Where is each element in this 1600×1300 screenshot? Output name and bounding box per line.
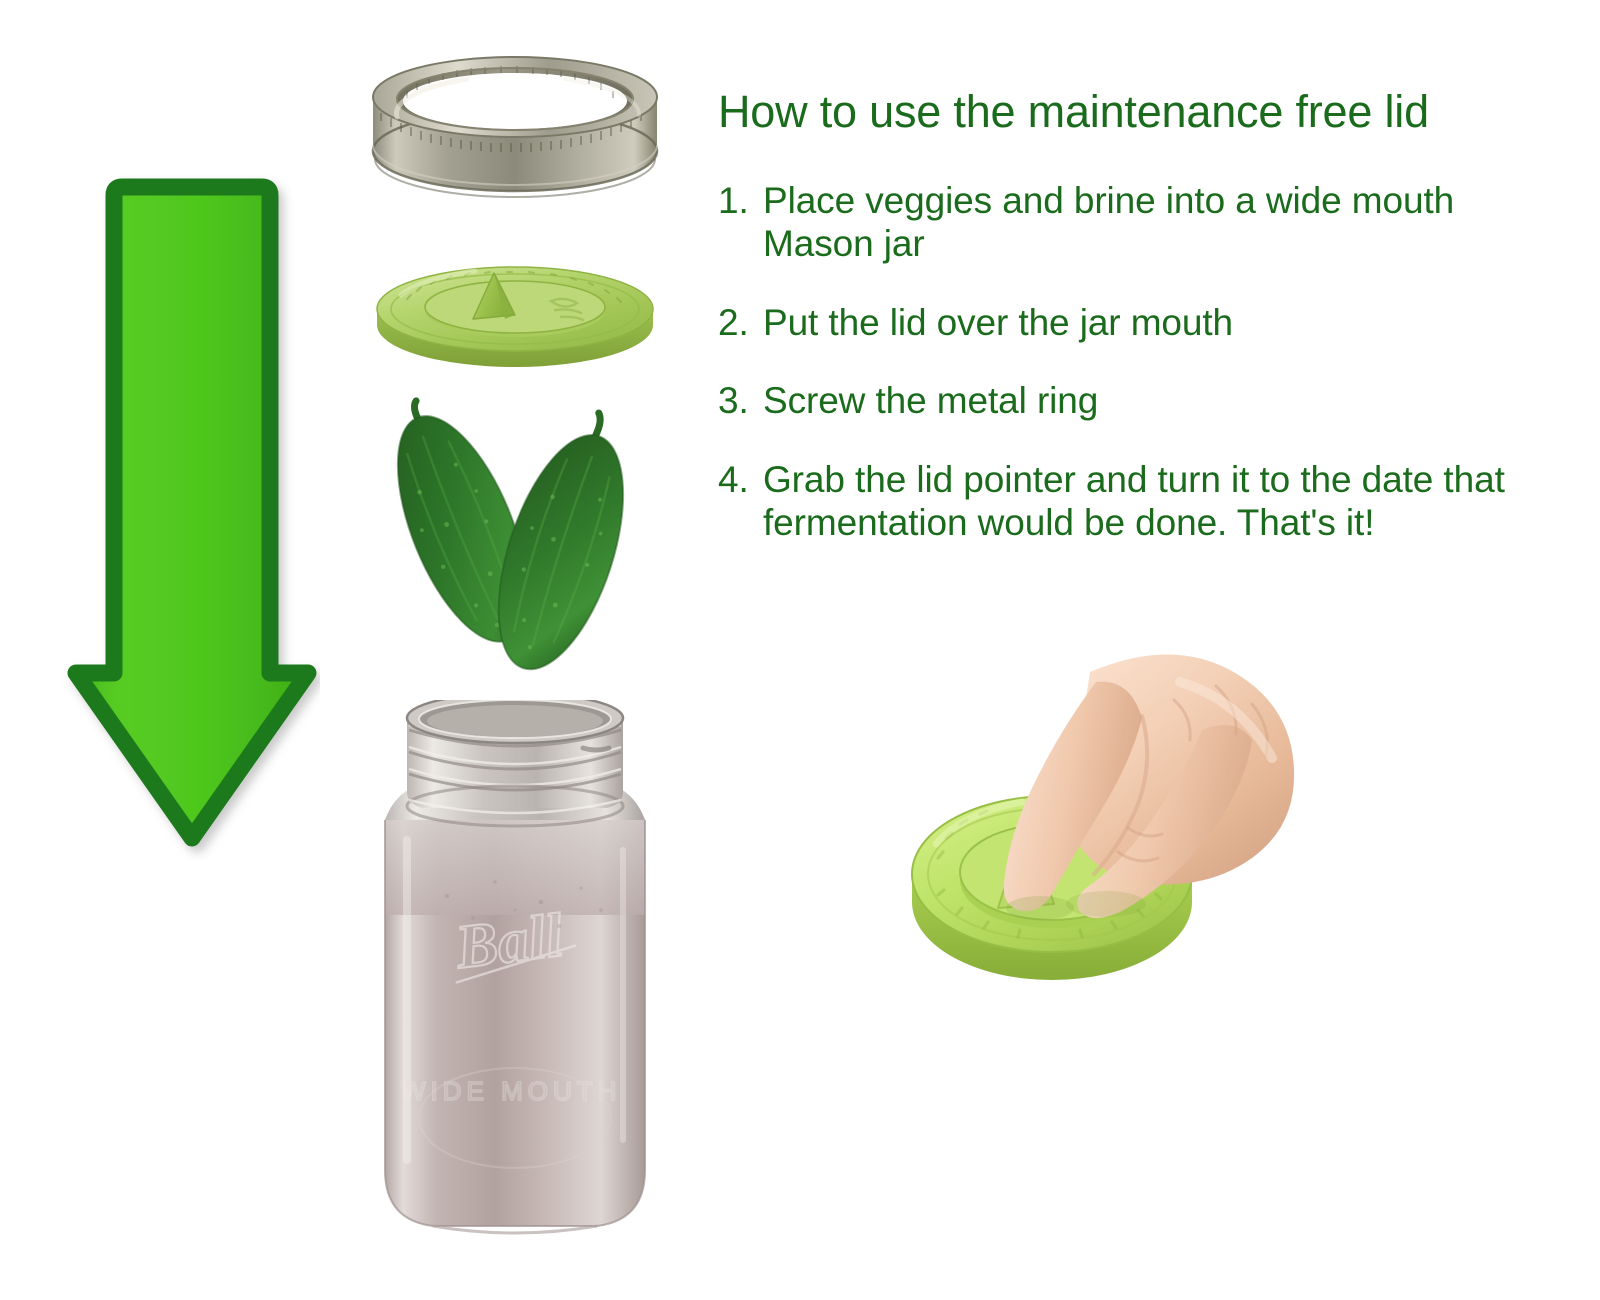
silicone-lid-part — [355, 247, 675, 367]
svg-text:Ball: Ball — [451, 901, 567, 982]
step-number: 4. — [718, 459, 763, 545]
step-number: 1. — [718, 180, 763, 266]
downward-arrow-graphic — [60, 170, 320, 860]
step-text: Grab the lid pointer and turn it to the … — [763, 459, 1538, 545]
steps-list: 1. Place veggies and brine into a wide m… — [718, 180, 1538, 545]
metal-ring-part — [355, 55, 675, 200]
step-number: 3. — [718, 380, 763, 423]
exploded-parts-column: Ball WIDE MOUTH — [355, 55, 675, 1245]
hand-turning-lid-icon — [880, 612, 1295, 1002]
cucumber-icon — [355, 390, 675, 690]
hand-graphic — [1004, 654, 1294, 920]
list-item: 1. Place veggies and brine into a wide m… — [718, 180, 1538, 266]
silicone-lid-icon — [355, 247, 675, 367]
instructions-panel: How to use the maintenance free lid 1. P… — [718, 88, 1538, 581]
page-title: How to use the maintenance free lid — [718, 88, 1538, 136]
list-item: 2. Put the lid over the jar mouth — [718, 302, 1538, 345]
hand-turning-lid-photo — [880, 612, 1295, 1002]
metal-ring-icon — [355, 55, 675, 200]
list-item: 3. Screw the metal ring — [718, 380, 1538, 423]
mason-jar-icon: Ball WIDE MOUTH — [355, 700, 675, 1245]
step-number: 2. — [718, 302, 763, 345]
step-text: Screw the metal ring — [763, 380, 1538, 423]
mason-jar-part: Ball WIDE MOUTH — [355, 700, 675, 1245]
step-text: Place veggies and brine into a wide mout… — [763, 180, 1538, 266]
step-text: Put the lid over the jar mouth — [763, 302, 1538, 345]
pickles-part — [355, 390, 675, 690]
list-item: 4. Grab the lid pointer and turn it to t… — [718, 459, 1538, 545]
downward-arrow-icon — [60, 170, 320, 860]
